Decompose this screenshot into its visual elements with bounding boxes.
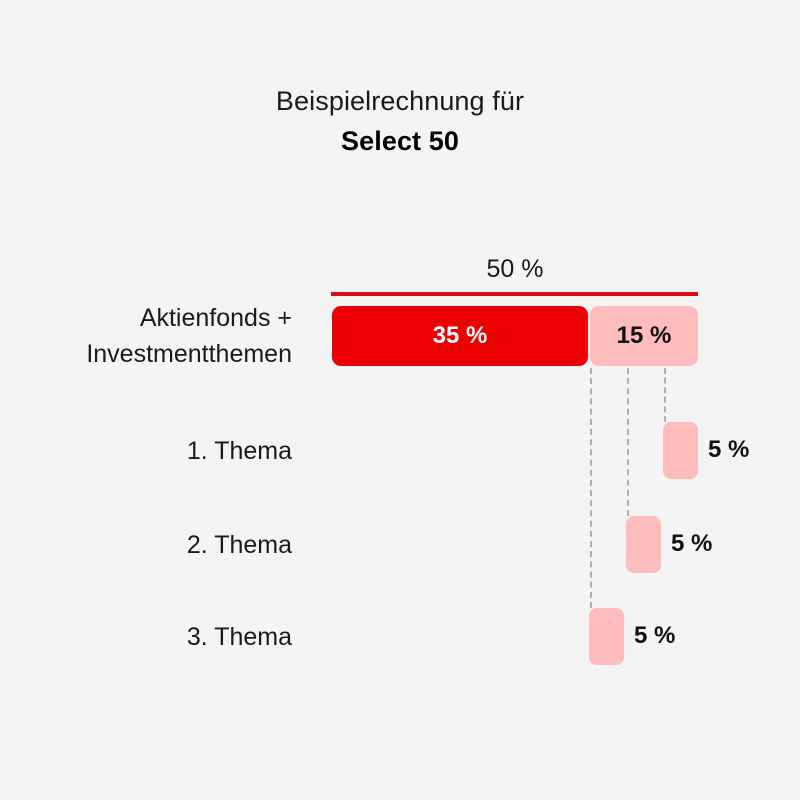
row-label-aktienfonds-line1: Aktienfonds + [86,300,292,336]
bar-segment-aktienfonds: 35 % [332,306,588,366]
row-label-thema-3: 3. Thema [187,620,292,654]
theme-value-2: 5 % [671,530,712,558]
connector-line-thema-1 [664,368,666,422]
row-label-aktienfonds: Aktienfonds + Investmentthemen [86,300,292,372]
row-label-thema-1: 1. Thema [187,434,292,468]
connector-line-thema-3 [590,368,592,608]
total-value-label: 50 % [332,255,698,284]
row-label-aktienfonds-line2: Investmentthemen [86,336,292,372]
theme-value-1: 5 % [708,436,749,464]
theme-value-3: 5 % [634,622,675,650]
total-rule-line [331,292,698,296]
theme-bar-2 [626,516,661,573]
main-stacked-bar: 35 % 15 % [332,306,698,366]
chart-title-primary: Beispielrechnung für [0,84,800,118]
chart-title-block: Beispielrechnung für Select 50 [0,84,800,158]
row-label-thema-2: 2. Thema [187,528,292,562]
bar-segment-investmentthemen: 15 % [590,306,698,366]
connector-line-thema-2 [627,368,629,516]
theme-bar-1 [663,422,698,479]
chart-title-product: Select 50 [0,124,800,158]
theme-bar-3 [589,608,624,665]
chart-canvas: Beispielrechnung für Select 50 50 % 35 %… [0,0,800,800]
